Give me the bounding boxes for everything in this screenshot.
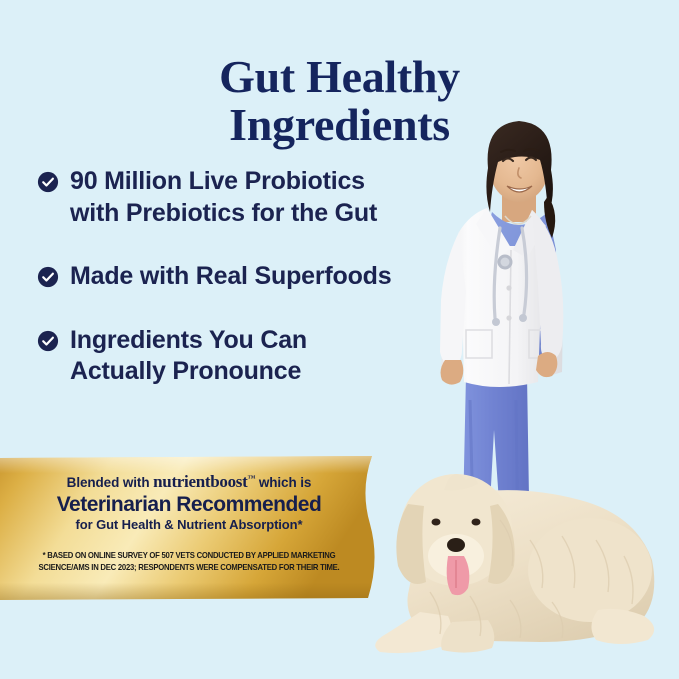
brand-name: nutrientboost™ [153,472,255,491]
title-line-2: Ingredients [0,101,679,149]
benefit-line-2: with Prebiotics for the Gut [70,198,377,230]
trademark-symbol: ™ [247,473,255,482]
list-item: Ingredients You Can Actually Pronounce [37,325,457,388]
benefit-line-1: 90 Million Live Probiotics [70,166,377,198]
banner-tagline: Blended with nutrientboost™ which is [0,472,378,492]
benefit-text: 90 Million Live Probiotics with Prebioti… [70,166,377,229]
brand-name-text: nutrientboost [153,472,247,491]
check-circle-icon [37,266,59,288]
veterinarian-recommended-banner: Blended with nutrientboost™ which is Vet… [0,456,394,600]
list-item: Made with Real Superfoods [37,261,457,293]
promotional-graphic: Gut Healthy Ingredients 90 Million Live … [0,0,679,679]
banner-suffix: which is [259,475,311,490]
benefit-line-1: Made with Real Superfoods [70,261,391,293]
title-line-1: Gut Healthy [0,53,679,101]
page-title: Gut Healthy Ingredients [0,53,679,149]
banner-subline: for Gut Health & Nutrient Absorption* [0,518,378,533]
list-item: 90 Million Live Probiotics with Prebioti… [37,166,457,229]
benefit-text: Ingredients You Can Actually Pronounce [70,325,307,388]
benefits-list: 90 Million Live Probiotics with Prebioti… [37,166,457,388]
check-circle-icon [37,171,59,193]
banner-prefix: Blended with [67,475,150,490]
benefit-line-2: Actually Pronounce [70,356,307,388]
banner-footnote: * BASED ON ONLINE SURVEY OF 507 VETS CON… [11,550,366,574]
veterinarian-figure [440,121,563,592]
banner-headline: Veterinarian Recommended [0,493,378,517]
banner-text-block: Blended with nutrientboost™ which is Vet… [0,456,378,600]
dog-figure [375,474,654,653]
benefit-text: Made with Real Superfoods [70,261,391,293]
footnote-line-1: * BASED ON ONLINE SURVEY OF 507 VETS CON… [32,550,346,562]
footnote-line-2: SCIENCE/AMS IN DEC 2023; RESPONDENTS WER… [32,562,346,574]
check-circle-icon [37,330,59,352]
benefit-line-1: Ingredients You Can [70,325,307,357]
